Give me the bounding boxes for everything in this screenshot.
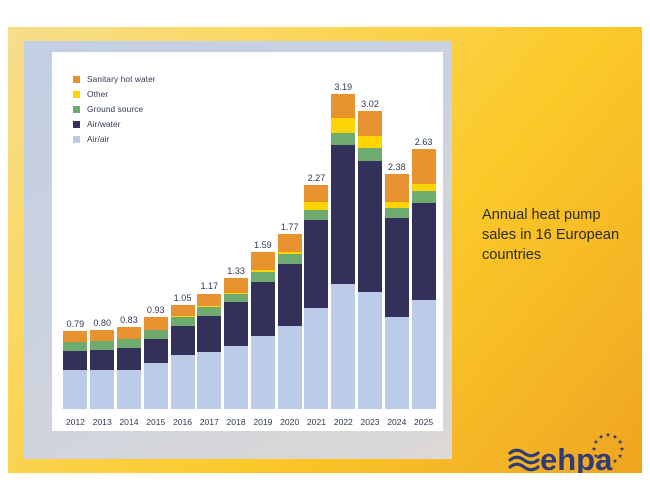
bar-segment-2022-ground-source[interactable]	[331, 133, 355, 146]
chart-panel: Sanitary hot waterOtherGround sourceAir/…	[24, 41, 452, 459]
bar-segment-2016-air-air[interactable]	[171, 355, 195, 409]
eu-star	[613, 435, 617, 439]
bar-column-2016[interactable]: 1.052016	[171, 78, 195, 431]
bar-segment-2016-air-water[interactable]	[171, 326, 195, 355]
bar-value-label-2012: 0.79	[67, 319, 85, 329]
bar-segment-2024-air-water[interactable]	[385, 218, 409, 317]
bar-chart-plot: 0.7920120.8020130.8320140.9320151.052016…	[62, 78, 437, 431]
bar-column-2013[interactable]: 0.802013	[90, 78, 114, 431]
bar-column-2021[interactable]: 2.272021	[304, 78, 328, 431]
bar-value-label-2025: 2.63	[415, 137, 433, 147]
bar-segment-2020-ground-source[interactable]	[278, 254, 302, 264]
bar-column-2020[interactable]: 1.772020	[278, 78, 302, 431]
bar-column-2019[interactable]: 1.592019	[251, 78, 275, 431]
bar-column-2017[interactable]: 1.172017	[197, 78, 221, 431]
bar-segment-2021-air-air[interactable]	[304, 308, 328, 409]
bar-column-2014[interactable]: 0.832014	[117, 78, 141, 431]
x-axis-label-2019: 2019	[253, 417, 272, 427]
bar-segment-2017-ground-source[interactable]	[197, 307, 221, 316]
bar-segment-2015-air-water[interactable]	[144, 339, 168, 363]
eu-star	[606, 433, 610, 437]
x-axis-label-2014: 2014	[119, 417, 138, 427]
bar-segment-2023-sanitary-hot-water[interactable]	[358, 111, 382, 137]
bar-segment-2022-sanitary-hot-water[interactable]	[331, 94, 355, 118]
bar-segment-2019-air-water[interactable]	[251, 282, 275, 336]
bar-column-2025[interactable]: 2.632025	[412, 78, 436, 431]
bar-stack-2016	[171, 305, 195, 409]
x-axis-label-2017: 2017	[200, 417, 219, 427]
bar-segment-2013-air-water[interactable]	[90, 350, 114, 370]
x-axis-label-2020: 2020	[280, 417, 299, 427]
x-axis-label-2016: 2016	[173, 417, 192, 427]
bar-segment-2025-other[interactable]	[412, 184, 436, 191]
chart-card: Sanitary hot waterOtherGround sourceAir/…	[52, 52, 443, 431]
eu-star	[620, 447, 624, 451]
bar-segment-2024-ground-source[interactable]	[385, 208, 409, 219]
bar-stack-2025	[412, 149, 436, 409]
bar-segment-2014-ground-source[interactable]	[117, 339, 141, 348]
bar-value-label-2020: 1.77	[281, 222, 299, 232]
eu-star	[618, 454, 622, 458]
bar-value-label-2024: 2.38	[388, 162, 406, 172]
bar-segment-2020-air-water[interactable]	[278, 264, 302, 326]
bar-segment-2025-air-water[interactable]	[412, 203, 436, 301]
bar-segment-2012-sanitary-hot-water[interactable]	[63, 331, 87, 342]
bar-value-label-2019: 1.59	[254, 240, 272, 250]
bar-segment-2018-sanitary-hot-water[interactable]	[224, 278, 248, 293]
bar-stack-2017	[197, 294, 221, 410]
bar-segment-2016-sanitary-hot-water[interactable]	[171, 305, 195, 316]
bar-segment-2023-air-water[interactable]	[358, 161, 382, 292]
bar-stack-2018	[224, 278, 248, 409]
eu-star	[599, 435, 603, 439]
bar-column-2018[interactable]: 1.332018	[224, 78, 248, 431]
x-axis-label-2024: 2024	[387, 417, 406, 427]
bar-value-label-2022: 3.19	[334, 82, 352, 92]
bar-value-label-2013: 0.80	[93, 318, 111, 328]
bar-stack-2022	[331, 94, 355, 409]
bar-column-2022[interactable]: 3.192022	[331, 78, 355, 431]
bar-segment-2019-air-air[interactable]	[251, 336, 275, 409]
bar-column-2015[interactable]: 0.932015	[144, 78, 168, 431]
bar-segment-2015-ground-source[interactable]	[144, 330, 168, 339]
bar-stack-2012	[63, 331, 87, 409]
bar-stack-2021	[304, 185, 328, 409]
x-axis-label-2022: 2022	[334, 417, 353, 427]
ehpa-logo-svg: ehpa	[507, 431, 633, 473]
bar-value-label-2018: 1.33	[227, 266, 245, 276]
bar-segment-2013-ground-source[interactable]	[90, 341, 114, 350]
bar-segment-2023-air-air[interactable]	[358, 292, 382, 409]
bar-segment-2018-air-water[interactable]	[224, 302, 248, 345]
bar-segment-2015-sanitary-hot-water[interactable]	[144, 317, 168, 330]
x-axis-label-2025: 2025	[414, 417, 433, 427]
bar-segment-2020-air-air[interactable]	[278, 326, 302, 409]
wave-icon	[510, 450, 538, 470]
bar-column-2024[interactable]: 2.382024	[385, 78, 409, 431]
bar-stack-2015	[144, 317, 168, 409]
bar-segment-2018-air-air[interactable]	[224, 346, 248, 409]
x-axis-label-2015: 2015	[146, 417, 165, 427]
bar-value-label-2016: 1.05	[174, 293, 192, 303]
bar-segment-2014-sanitary-hot-water[interactable]	[117, 327, 141, 339]
bar-segment-2021-other[interactable]	[304, 202, 328, 210]
bar-value-label-2014: 0.83	[120, 315, 138, 325]
bar-segment-2021-ground-source[interactable]	[304, 210, 328, 221]
ehpa-logo: ehpa	[507, 431, 633, 473]
logo-wordmark: ehpa	[540, 442, 613, 473]
bar-segment-2018-ground-source[interactable]	[224, 294, 248, 303]
bar-segment-2013-air-air[interactable]	[90, 370, 114, 409]
bar-segment-2021-air-water[interactable]	[304, 220, 328, 308]
bar-segment-2022-air-air[interactable]	[331, 284, 355, 409]
bar-value-label-2023: 3.02	[361, 99, 379, 109]
bar-segment-2022-other[interactable]	[331, 118, 355, 133]
x-axis-label-2013: 2013	[93, 417, 112, 427]
bar-segment-2017-air-water[interactable]	[197, 316, 221, 352]
bar-segment-2019-sanitary-hot-water[interactable]	[251, 252, 275, 270]
bar-segment-2016-ground-source[interactable]	[171, 317, 195, 326]
bar-segment-2013-sanitary-hot-water[interactable]	[90, 330, 114, 341]
eu-star	[618, 440, 622, 444]
bar-segment-2025-air-air[interactable]	[412, 300, 436, 409]
bar-stack-2020	[278, 234, 302, 409]
bar-segment-2024-sanitary-hot-water[interactable]	[385, 174, 409, 202]
slide-canvas: Sanitary hot waterOtherGround sourceAir/…	[8, 27, 642, 473]
bar-segment-2023-ground-source[interactable]	[358, 148, 382, 161]
bar-stack-2019	[251, 252, 275, 409]
bar-segment-2014-air-water[interactable]	[117, 348, 141, 370]
x-axis-label-2023: 2023	[360, 417, 379, 427]
eu-star	[613, 459, 617, 463]
bar-stack-2014	[117, 327, 141, 409]
bar-segment-2025-sanitary-hot-water[interactable]	[412, 149, 436, 184]
bar-segment-2012-ground-source[interactable]	[63, 342, 87, 351]
x-axis-label-2018: 2018	[227, 417, 246, 427]
x-axis-label-2012: 2012	[66, 417, 85, 427]
bar-segment-2024-air-air[interactable]	[385, 317, 409, 409]
bar-segment-2021-sanitary-hot-water[interactable]	[304, 185, 328, 202]
page-title: Annual heat pump sales in 16 European co…	[482, 205, 632, 265]
bar-segment-2017-air-air[interactable]	[197, 352, 221, 409]
bar-segment-2025-ground-source[interactable]	[412, 191, 436, 203]
bar-segment-2015-air-air[interactable]	[144, 363, 168, 409]
bar-value-label-2017: 1.17	[200, 281, 218, 291]
bar-stack-2013	[90, 330, 114, 409]
bar-segment-2020-sanitary-hot-water[interactable]	[278, 234, 302, 252]
bar-segment-2023-other[interactable]	[358, 136, 382, 148]
bar-segment-2012-air-air[interactable]	[63, 370, 87, 409]
x-axis-label-2021: 2021	[307, 417, 326, 427]
bar-value-label-2015: 0.93	[147, 305, 165, 315]
bar-value-label-2021: 2.27	[308, 173, 326, 183]
bar-segment-2019-ground-source[interactable]	[251, 272, 275, 282]
bar-stack-2023	[358, 111, 382, 409]
bar-segment-2014-air-air[interactable]	[117, 370, 141, 409]
bar-column-2012[interactable]: 0.792012	[63, 78, 87, 431]
bar-segment-2012-air-water[interactable]	[63, 351, 87, 370]
bar-column-2023[interactable]: 3.022023	[358, 78, 382, 431]
bar-segment-2017-sanitary-hot-water[interactable]	[197, 294, 221, 307]
bar-segment-2022-air-water[interactable]	[331, 145, 355, 283]
bar-stack-2024	[385, 174, 409, 409]
